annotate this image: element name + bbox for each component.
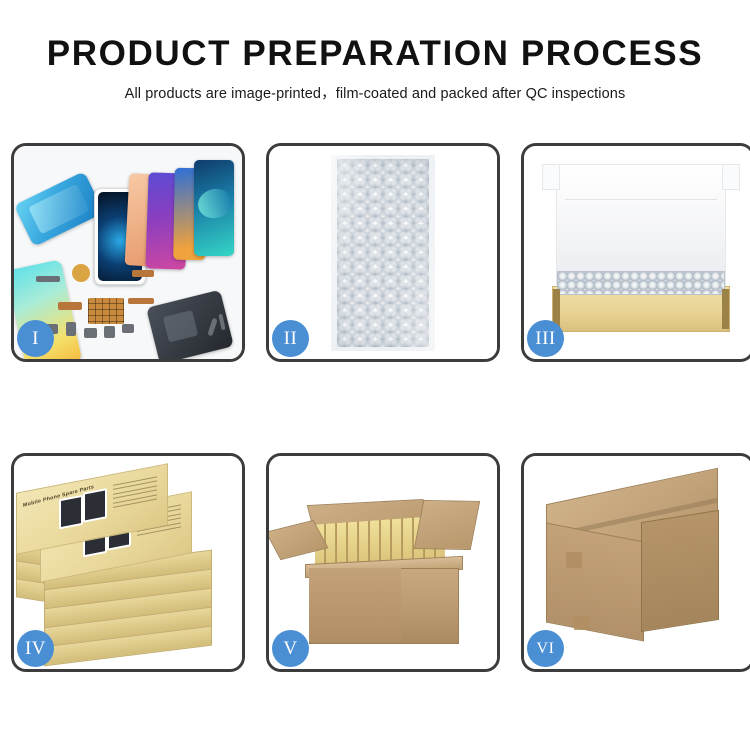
spare-part-sensor <box>122 324 134 333</box>
plastic-sheen <box>331 155 435 351</box>
box-screen-image-1b <box>83 488 107 523</box>
carton-tape-mark-bottom <box>574 616 590 630</box>
spare-part-chip-grid <box>88 298 124 324</box>
process-step-panel-6[interactable]: VI <box>521 453 750 672</box>
box-spec-lines-1 <box>113 476 157 515</box>
carton-flap-right <box>414 500 480 550</box>
carton-tape-mark-top <box>566 552 582 568</box>
process-step-panel-1[interactable]: I <box>11 143 245 362</box>
spare-part-camera <box>84 328 97 338</box>
process-step-panel-3[interactable]: III <box>521 143 750 362</box>
process-step-grid: I II <box>0 0 750 750</box>
process-step-panel-4[interactable]: Mobile Phone Spare Parts Mobile Phone Sp… <box>11 453 245 672</box>
kraft-box-tray <box>552 286 730 332</box>
lid-tab-right <box>722 164 740 190</box>
spare-part-speaker <box>72 264 90 282</box>
bubble-wrapped-contents <box>557 271 725 295</box>
process-step-panel-2[interactable]: II <box>266 143 500 362</box>
step-badge-1: I <box>17 320 54 357</box>
step-badge-5: V <box>272 630 309 667</box>
phone-screen-blue <box>14 171 104 247</box>
spare-part-connector <box>104 326 115 338</box>
carton-left-face <box>546 522 644 641</box>
phone-screen-teal <box>194 160 234 256</box>
spare-part-flex-cable-c <box>58 302 82 310</box>
bubble-wrap-pouch <box>331 155 435 351</box>
carton-front-face <box>309 568 401 642</box>
box-screen-image-1a <box>59 495 83 530</box>
product-preparation-page: PRODUCT PREPARATION PROCESS All products… <box>0 0 750 750</box>
step-badge-3: III <box>527 320 564 357</box>
spare-part-flex-cable-b <box>128 298 154 304</box>
spare-part-button <box>66 322 76 336</box>
carton-right-face <box>641 510 719 632</box>
step-badge-6: VI <box>527 630 564 667</box>
step-badge-4: IV <box>17 630 54 667</box>
lid-tab-left <box>542 164 560 190</box>
tray-side-right <box>722 289 729 329</box>
step-badge-2: II <box>272 320 309 357</box>
spare-part-bracket <box>36 276 60 282</box>
process-step-panel-5[interactable]: V <box>266 453 500 672</box>
spare-part-flex-cable-a <box>132 270 154 277</box>
